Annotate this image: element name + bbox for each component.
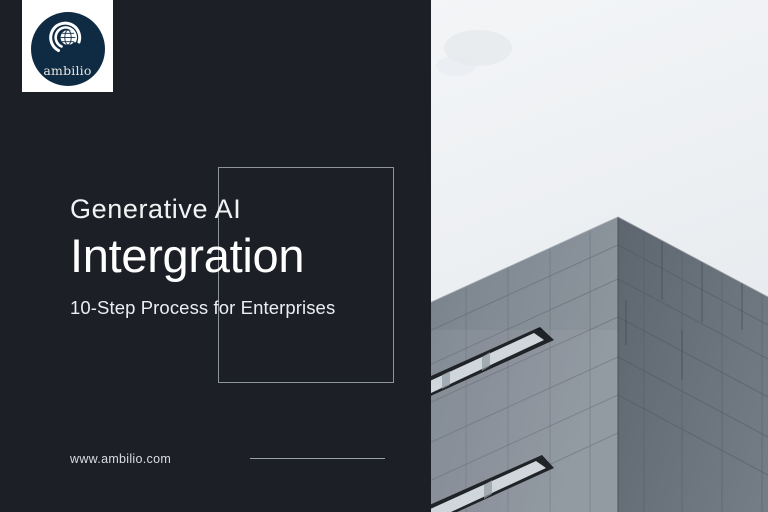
logo-wordmark: ambilio bbox=[31, 65, 105, 78]
logo-circle: ambilio bbox=[31, 12, 105, 86]
ambilio-logo[interactable]: ambilio bbox=[22, 0, 113, 92]
building-corner-photo bbox=[430, 0, 768, 512]
globe-spiral-icon bbox=[45, 20, 91, 56]
footer: www.ambilio.com bbox=[70, 450, 410, 468]
page-title: Intergration bbox=[70, 228, 420, 283]
title-kicker: Generative AI bbox=[70, 192, 420, 226]
title-subhead: 10-Step Process for Enterprises bbox=[70, 295, 420, 321]
title-block: Generative AI Intergration 10-Step Proce… bbox=[70, 192, 420, 321]
footer-divider bbox=[250, 458, 385, 459]
website-url[interactable]: www.ambilio.com bbox=[70, 452, 171, 466]
presentation-slide: ambilio Generative AI Intergration 10-St… bbox=[0, 0, 768, 512]
